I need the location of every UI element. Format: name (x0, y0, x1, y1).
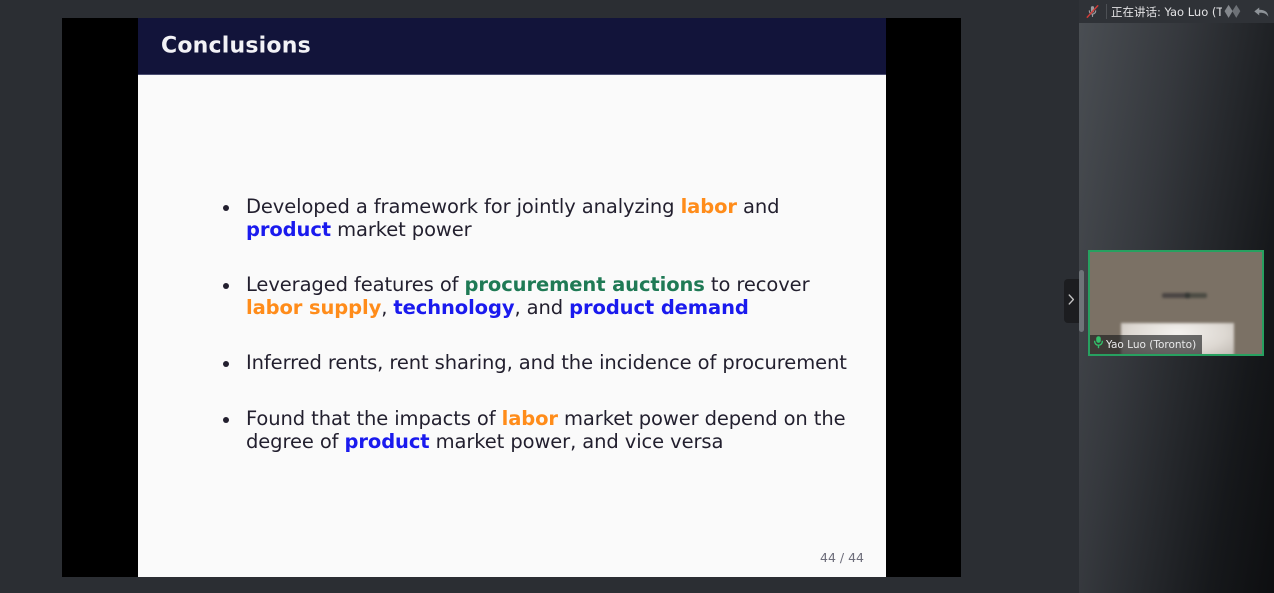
bullet-highlight: labor (681, 195, 737, 218)
bullet-dot-icon (223, 361, 229, 367)
microphone-active-icon (1093, 335, 1104, 354)
microphone-muted-icon[interactable] (1079, 0, 1105, 23)
bullet-highlight: procurement auctions (465, 273, 705, 296)
expand-view-icon[interactable] (1222, 0, 1248, 23)
video-feed-detail (1185, 293, 1207, 298)
bullet-highlight: product (345, 430, 430, 453)
presentation-slide[interactable]: Conclusions Developed a framework for jo… (138, 18, 886, 577)
slide-bullet-item: Leveraged features of procurement auctio… (220, 274, 852, 319)
bullet-highlight: labor (502, 407, 558, 430)
bullet-highlight: technology (393, 296, 514, 319)
participants-video-panel: 正在讲话: Yao Luo (Toro... (1079, 0, 1274, 593)
collapse-panel-button[interactable] (1064, 279, 1079, 323)
bullet-text: , and (514, 296, 569, 319)
participant-name-label: Yao Luo (Toronto) (1106, 339, 1196, 351)
participant-name-bar: Yao Luo (Toronto) (1090, 335, 1202, 354)
bullet-text: , (381, 296, 393, 319)
bullet-highlight: product (246, 218, 331, 241)
chevron-right-icon (1068, 294, 1075, 308)
bullet-text: Leveraged features of (246, 273, 465, 296)
panel-toolbar: 正在讲话: Yao Luo (Toro... (1079, 0, 1274, 23)
panel-scrollbar[interactable] (1079, 270, 1084, 332)
bullet-text: market power, and vice versa (430, 430, 724, 453)
toolbar-divider (1106, 4, 1107, 19)
panel-video-strip: Yao Luo (Toronto) (1079, 23, 1274, 593)
bullet-text: and (737, 195, 780, 218)
bullet-text: market power (331, 218, 472, 241)
bullet-text: Inferred rents, rent sharing, and the in… (246, 351, 847, 374)
bullet-text: Developed a framework for jointly analyz… (246, 195, 681, 218)
bullet-highlight: product demand (569, 296, 749, 319)
bullet-text: to recover (705, 273, 810, 296)
bullet-highlight: labor supply (246, 296, 381, 319)
slide-bullet-list: Developed a framework for jointly analyz… (220, 196, 852, 453)
return-arrow-icon[interactable] (1248, 0, 1274, 23)
bullet-dot-icon (223, 205, 229, 211)
participant-video-tile[interactable]: Yao Luo (Toronto) (1088, 250, 1264, 356)
slide-page-counter: 44 / 44 (820, 550, 864, 565)
slide-bullet-item: Developed a framework for jointly analyz… (220, 196, 852, 241)
slide-bullet-item: Found that the impacts of labor market p… (220, 408, 852, 453)
active-speaker-label: 正在讲话: Yao Luo (Toro... (1110, 4, 1222, 20)
slide-bullet-item: Inferred rents, rent sharing, and the in… (220, 352, 852, 375)
bullet-dot-icon (223, 417, 229, 423)
bullet-text: Found that the impacts of (246, 407, 502, 430)
slide-body: Developed a framework for jointly analyz… (138, 76, 886, 577)
bullet-dot-icon (223, 283, 229, 289)
slide-title: Conclusions (161, 34, 311, 59)
shared-screen-stage[interactable]: Conclusions Developed a framework for jo… (0, 0, 1070, 593)
slide-title-bar: Conclusions (138, 18, 886, 75)
zoom-meeting-window: Conclusions Developed a framework for jo… (0, 0, 1274, 593)
